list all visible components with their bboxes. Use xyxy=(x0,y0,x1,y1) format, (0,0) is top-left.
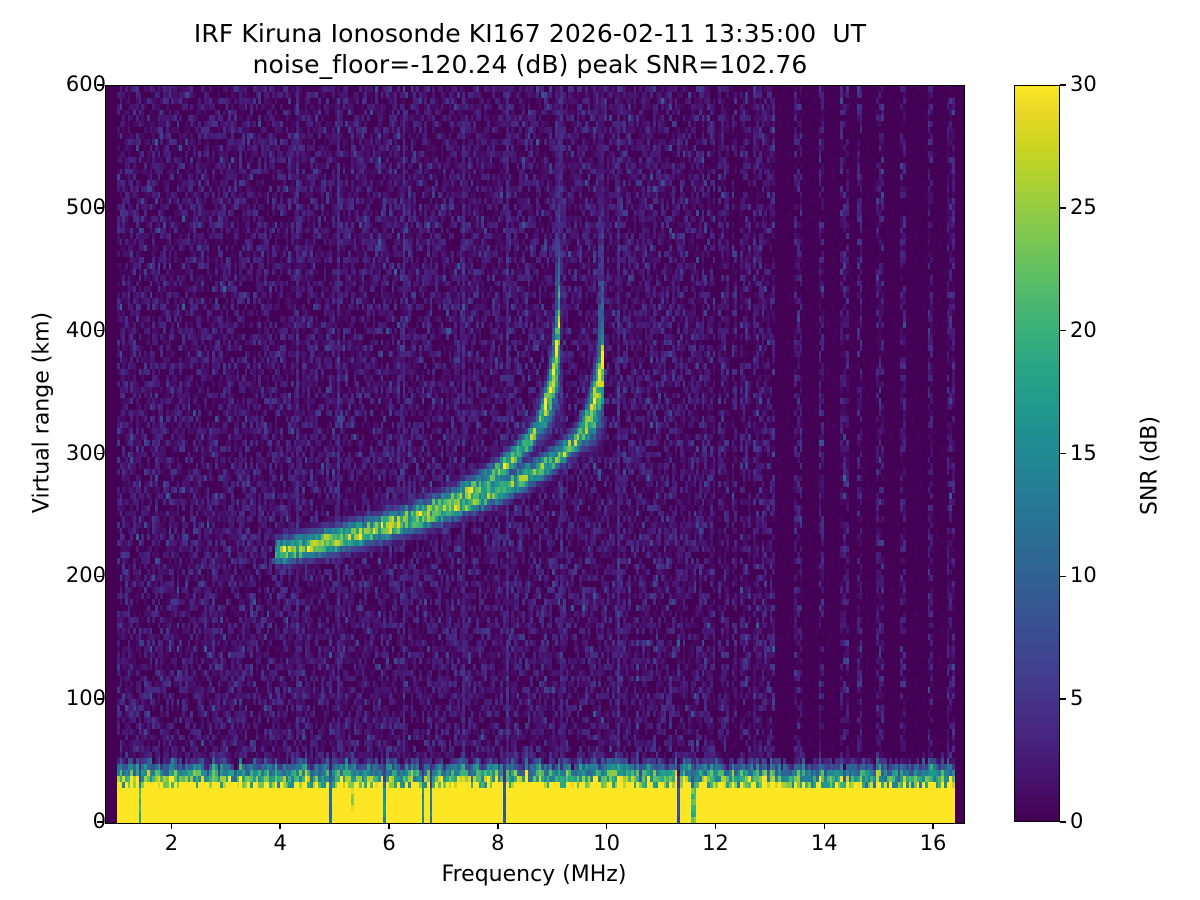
x-axis-label: Frequency (MHz) xyxy=(105,862,963,887)
figure-title: IRF Kiruna Ionosonde KI167 2026-02-11 13… xyxy=(0,18,1060,80)
colorbar-tick-label: 15 xyxy=(1070,443,1097,464)
x-tick-mark xyxy=(715,823,716,829)
title-line-2: noise_floor=-120.24 (dB) peak SNR=102.76 xyxy=(0,49,1060,80)
colorbar-tick-label: 25 xyxy=(1070,197,1097,218)
y-tick-label: 300 xyxy=(66,443,106,464)
x-tick-label: 10 xyxy=(593,833,620,854)
x-tick-label: 4 xyxy=(274,833,287,854)
x-tick-label: 12 xyxy=(702,833,729,854)
colorbar-tick-mark xyxy=(1060,84,1066,85)
y-axis-label: Virtual range (km) xyxy=(30,253,55,573)
x-tick-mark xyxy=(497,823,498,829)
x-tick-label: 2 xyxy=(165,833,178,854)
y-tick-label: 500 xyxy=(66,197,106,218)
colorbar-tick-mark xyxy=(1060,453,1066,454)
x-tick-label: 6 xyxy=(382,833,395,854)
colorbar-tick-label: 5 xyxy=(1070,688,1083,709)
colorbar-label: SNR (dB) xyxy=(1138,316,1163,616)
x-tick-mark xyxy=(279,823,280,829)
ionogram-figure: IRF Kiruna Ionosonde KI167 2026-02-11 13… xyxy=(0,0,1200,900)
colorbar-tick-label: 30 xyxy=(1070,74,1097,95)
colorbar-tick-mark xyxy=(1060,330,1066,331)
title-line-1: IRF Kiruna Ionosonde KI167 2026-02-11 13… xyxy=(0,18,1060,49)
colorbar-tick-mark xyxy=(1060,207,1066,208)
colorbar-tick-mark xyxy=(1060,821,1066,822)
x-tick-mark xyxy=(606,823,607,829)
x-tick-label: 8 xyxy=(491,833,504,854)
x-tick-label: 16 xyxy=(920,833,947,854)
ionogram-plot-area xyxy=(105,85,965,824)
colorbar-gradient xyxy=(1014,85,1060,822)
y-tick-label: 400 xyxy=(66,320,106,341)
colorbar-tick-mark xyxy=(1060,698,1066,699)
ionogram-heatmap xyxy=(106,86,964,823)
colorbar-tick-label: 10 xyxy=(1070,565,1097,586)
colorbar-tick-mark xyxy=(1060,576,1066,577)
x-tick-label: 14 xyxy=(811,833,838,854)
x-tick-mark xyxy=(388,823,389,829)
x-tick-mark xyxy=(932,823,933,829)
colorbar-tick-label: 20 xyxy=(1070,320,1097,341)
y-tick-label: 200 xyxy=(66,565,106,586)
x-tick-mark xyxy=(824,823,825,829)
colorbar-tick-label: 0 xyxy=(1070,811,1083,832)
y-tick-label: 0 xyxy=(93,811,106,832)
y-tick-label: 600 xyxy=(66,74,106,95)
colorbar xyxy=(1014,85,1060,822)
y-tick-label: 100 xyxy=(66,688,106,709)
x-tick-mark xyxy=(171,823,172,829)
